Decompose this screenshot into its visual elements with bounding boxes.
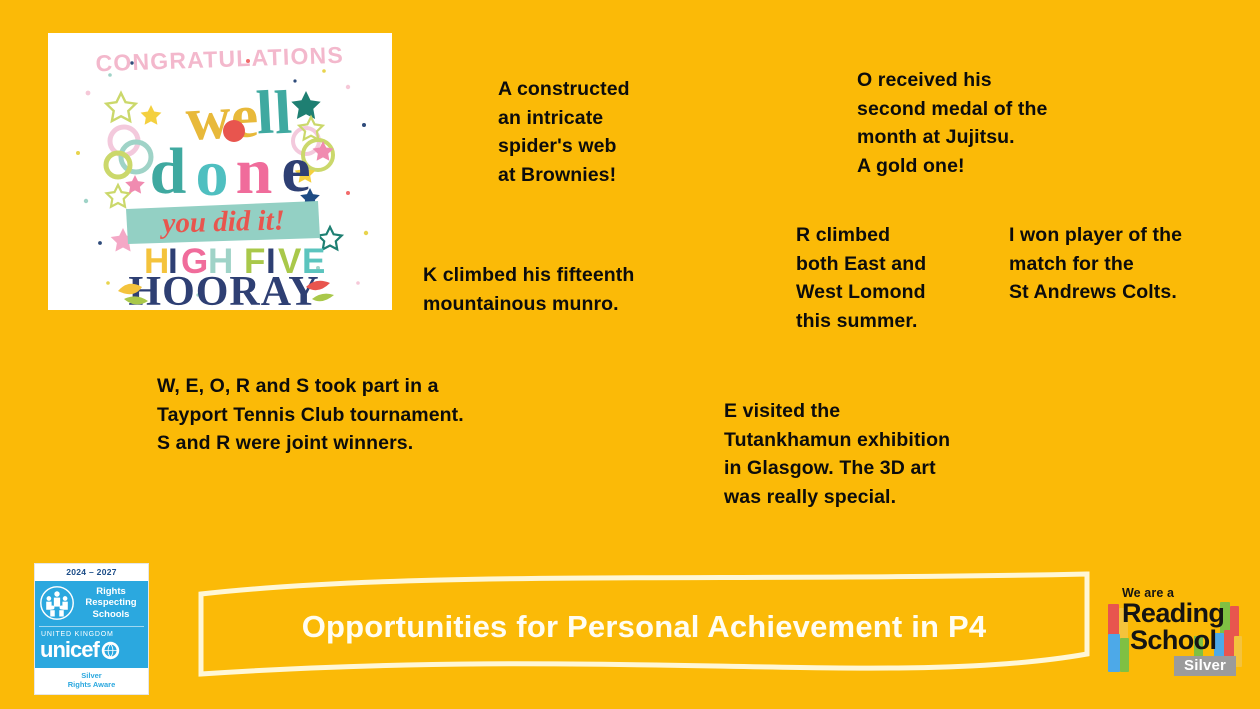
- children-circle-icon: [39, 585, 75, 621]
- achievement-text-tutankhamun-exhibition: E visited the Tutankhamun exhibition in …: [724, 397, 1024, 512]
- slide-title: Opportunities for Personal Achievement i…: [196, 568, 1092, 680]
- svg-text:d: d: [150, 135, 187, 208]
- reading-school-line-school: School: [1130, 627, 1216, 654]
- unicef-badge-years: 2024 – 2027: [35, 564, 148, 581]
- achievement-text-spider-web: A constructed an intricate spider's web …: [498, 75, 748, 190]
- reading-school-line-reading: Reading: [1122, 600, 1224, 627]
- unicef-globe-icon: [101, 641, 120, 660]
- unicef-rights-respecting-schools-badge: 2024 – 2027: [34, 563, 149, 695]
- unicef-badge-programme-label: Rights Respecting Schools: [78, 586, 144, 620]
- achievement-text-st-andrews-colts: I won player of the match for the St And…: [1009, 221, 1244, 307]
- slide-canvas: CONGRATULATIONS: [0, 0, 1260, 709]
- congratulations-card: CONGRATULATIONS: [48, 33, 392, 310]
- svg-text:n: n: [236, 135, 273, 208]
- achievement-text-lomond-climb: R climbed both East and West Lomond this…: [796, 221, 996, 336]
- achievement-text-munro-climb: K climbed his fifteenth mountainous munr…: [423, 261, 688, 318]
- unicef-wordmark-row: unicef: [39, 639, 144, 661]
- achievement-text-tennis-tournament: W, E, O, R and S took part in a Tayport …: [157, 372, 547, 458]
- unicef-badge-body: Rights Respecting Schools UNITED KINGDOM…: [35, 581, 148, 668]
- achievement-text-jujitsu-medal: O received his second medal of the month…: [857, 66, 1127, 181]
- svg-text:you did it!: you did it!: [159, 204, 285, 239]
- svg-text:HOORAY: HOORAY: [128, 269, 319, 310]
- book-spine-icon: [1108, 634, 1120, 672]
- reading-school-level-badge: Silver: [1174, 656, 1236, 676]
- unicef-badge-programme-row: Rights Respecting Schools: [39, 585, 144, 621]
- title-banner: Opportunities for Personal Achievement i…: [196, 568, 1092, 680]
- reading-school-badge: We are a Reading School Silver: [1108, 586, 1254, 682]
- unicef-badge-award-level: Silver Rights Aware: [35, 668, 148, 694]
- svg-text:o: o: [196, 137, 229, 210]
- book-spine-icon: [1120, 638, 1129, 672]
- svg-text:e: e: [281, 133, 310, 206]
- well-done-artwork: CONGRATULATIONS: [48, 33, 392, 310]
- unicef-wordmark: unicef: [40, 639, 99, 661]
